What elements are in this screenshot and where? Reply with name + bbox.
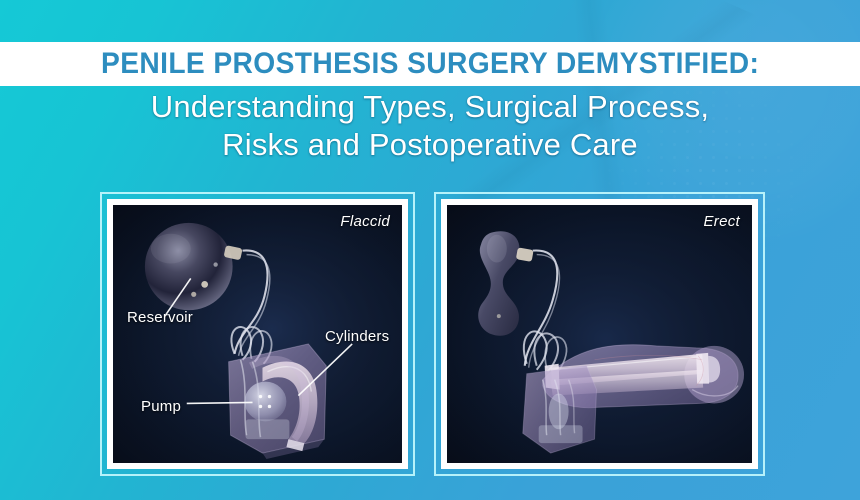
callout-pump: Pump — [141, 398, 181, 415]
illustration-panel-flaccid: Flaccid Reservoir Cylinders Pump — [100, 192, 415, 476]
callout-reservoir: Reservoir — [127, 309, 193, 326]
erect-anatomy-graphic — [447, 205, 752, 463]
subtitle-line-2: Risks and Postoperative Care — [0, 126, 860, 164]
infographic-canvas: PENILE PROSTHESIS SURGERY DEMYSTIFIED: U… — [0, 0, 860, 500]
subtitle-line-1: Understanding Types, Surgical Process, — [0, 88, 860, 126]
callout-cylinders: Cylinders — [325, 328, 389, 345]
panel-white-frame: Erect — [441, 199, 758, 469]
state-label-erect: Erect — [703, 213, 740, 230]
illustration-panel-erect: Erect — [434, 192, 765, 476]
medical-illustration-flaccid: Flaccid Reservoir Cylinders Pump — [113, 205, 402, 463]
page-title: PENILE PROSTHESIS SURGERY DEMYSTIFIED: — [101, 47, 759, 81]
title-banner: PENILE PROSTHESIS SURGERY DEMYSTIFIED: — [0, 42, 860, 86]
medical-illustration-erect: Erect — [447, 205, 752, 463]
panel-white-frame: Flaccid Reservoir Cylinders Pump — [107, 199, 408, 469]
page-subtitle: Understanding Types, Surgical Process, R… — [0, 88, 860, 164]
state-label-flaccid: Flaccid — [340, 213, 390, 230]
